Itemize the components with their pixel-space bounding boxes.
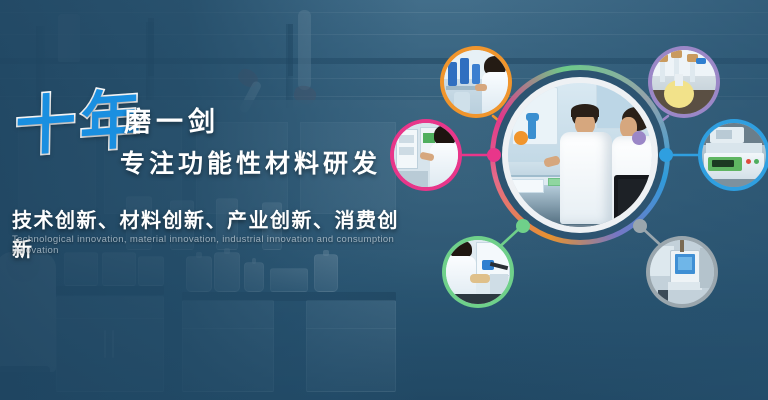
hub-dot-bottom-right [633,219,647,233]
hub-dot-top-right [632,131,646,145]
center-photo-two-researchers [508,83,652,227]
hub-dot-left [487,148,501,162]
headline-sub: 磨一剑 [124,100,220,139]
node-cluster [390,20,768,390]
hub-dot-top-left [514,131,528,145]
researcher-left [558,105,614,227]
subheadline: 专注功能性材料研发 [120,144,381,180]
node-left[interactable] [390,119,462,191]
node-top-right[interactable] [648,46,720,118]
node-bottom-left[interactable] [442,236,514,308]
node-top-left[interactable] [440,46,512,118]
promo-banner: 十年 磨一剑 专注功能性材料研发 技术创新、材料创新、产业创新、消费创新 Tec… [0,0,768,400]
hub-dot-bottom-left [516,219,530,233]
center-node[interactable] [490,65,670,245]
desktop-monitor [614,175,652,227]
node-right[interactable] [698,119,768,191]
tagline-en: Technological innovation, material innov… [12,234,400,256]
hub-dot-right [659,148,673,162]
headline-block: 十年 磨一剑 专注功能性材料研发 技术创新、材料创新、产业创新、消费创新 Tec… [0,96,400,162]
node-bottom-right[interactable] [646,236,718,308]
